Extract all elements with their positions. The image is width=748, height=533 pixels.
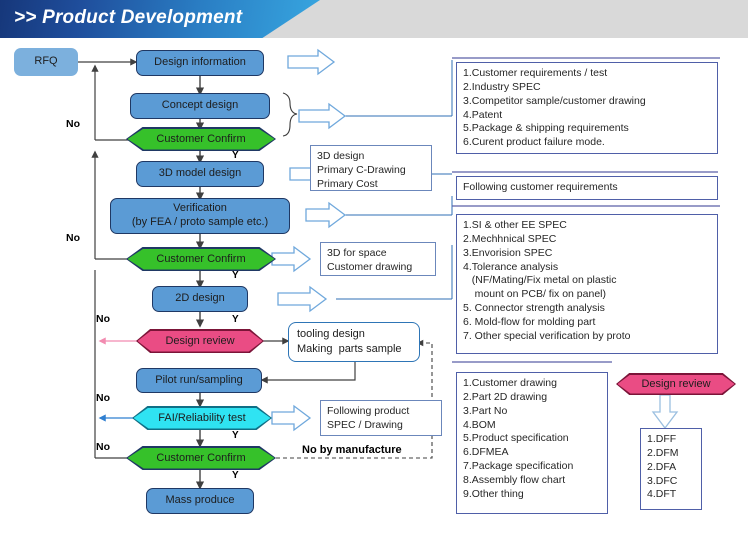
panel-dfx-list-item-2: 2.DFM <box>647 447 695 461</box>
panel-spec-list-item-9: 7. Other special verification by proto <box>463 330 711 344</box>
flow-node-pilot-run-sampling-label: Pilot run/sampling <box>155 374 242 388</box>
panel-dfx-list-item-3: 2.DFA <box>647 461 695 475</box>
flow-node-design-review-label: Design review <box>165 335 234 347</box>
panel-deliverables-item-5: 5.Product specification <box>463 432 601 446</box>
callout-3d-for-space-line-1: 3D for space <box>327 247 429 261</box>
callout-3d-for-space-line-2: Customer drawing <box>327 261 429 275</box>
branch-label-yes-4: Y <box>232 430 239 441</box>
callout-following-product-line-2: SPEC / Drawing <box>327 419 435 433</box>
flow-node-customer-confirm-2[interactable]: Customer Confirm <box>126 247 276 271</box>
callout-tooling-design[interactable]: tooling design Making parts sample <box>288 322 420 362</box>
panel-deliverables-item-6: 6.DFMEA <box>463 446 601 460</box>
panel-customer-requirements: 1.Customer requirements / test 2.Industr… <box>456 62 718 154</box>
flow-node-customer-confirm-2-label: Customer Confirm <box>156 253 245 265</box>
panel-spec-list-item-4: 4.Tolerance analysis <box>463 261 711 275</box>
panel-customer-requirements-item-3: 3.Competitor sample/customer drawing <box>463 95 711 109</box>
callout-3d-design-line-2: Primary C-Drawing <box>317 164 425 178</box>
flow-node-rfq-label: RFQ <box>34 55 57 69</box>
panel-customer-requirements-item-1: 1.Customer requirements / test <box>463 67 711 81</box>
flow-node-rfq[interactable]: RFQ <box>14 48 78 76</box>
badge-design-review-label: Design review <box>641 378 710 390</box>
panel-deliverables-item-1: 1.Customer drawing <box>463 377 601 391</box>
panel-dfx-list-item-1: 1.DFF <box>647 433 695 447</box>
callout-3d-design-line-3: Primary Cost <box>317 178 425 192</box>
panel-dfx-list-item-5: 4.DFT <box>647 488 695 502</box>
callout-3d-design: 3D design Primary C-Drawing Primary Cost <box>310 145 432 191</box>
flow-node-concept-design-label: Concept design <box>162 99 238 113</box>
flow-node-mass-produce-label: Mass produce <box>165 494 234 508</box>
panel-deliverables-item-7: 7.Package specification <box>463 460 601 474</box>
panel-following-customer-requirements: Following customer requirements <box>456 176 718 200</box>
panel-customer-requirements-item-2: 2.Industry SPEC <box>463 81 711 95</box>
flow-node-mass-produce[interactable]: Mass produce <box>146 488 254 514</box>
panel-customer-requirements-item-4: 4.Patent <box>463 109 711 123</box>
branch-label-no-5: No <box>96 441 110 453</box>
callout-following-product-line-1: Following product <box>327 405 435 419</box>
branch-label-yes-2: Y <box>232 270 239 281</box>
panel-spec-list-item-3: 3.Envorision SPEC <box>463 247 711 261</box>
header-divider <box>0 38 748 40</box>
panel-deliverables-item-4: 4.BOM <box>463 419 601 433</box>
callout-3d-for-space: 3D for space Customer drawing <box>320 242 436 276</box>
panel-deliverables-item-2: 2.Part 2D drawing <box>463 391 601 405</box>
flow-node-3d-model-design[interactable]: 3D model design <box>136 161 264 187</box>
panel-following-customer-requirements-item-1: Following customer requirements <box>463 181 711 195</box>
flow-node-fai-reliability-test[interactable]: FAI/Reliability test <box>132 406 272 430</box>
flow-node-concept-design[interactable]: Concept design <box>130 93 270 119</box>
flow-node-design-information[interactable]: Design information <box>136 50 264 76</box>
flow-node-3d-model-design-label: 3D model design <box>159 167 242 181</box>
flow-node-fai-reliability-test-label: FAI/Reliability test <box>158 412 245 424</box>
panel-spec-list-item-1: 1.SI & other EE SPEC <box>463 219 711 233</box>
panel-dfx-list: 1.DFF 2.DFM 2.DFA 3.DFC 4.DFT <box>640 428 702 510</box>
callout-tooling-design-line-2: Making parts sample <box>297 342 411 357</box>
badge-design-review[interactable]: Design review <box>616 373 736 395</box>
flow-node-design-information-label: Design information <box>154 56 246 70</box>
hollow-arrow-icon <box>288 50 334 74</box>
panel-deliverables-item-8: 8.Assembly flow chart <box>463 474 601 488</box>
flow-node-customer-confirm-1-label: Customer Confirm <box>156 133 245 145</box>
branch-label-yes-1: Y <box>232 150 239 161</box>
panel-spec-list-item-6: mount on PCB/ fix on panel) <box>463 288 711 302</box>
flow-node-design-review[interactable]: Design review <box>136 329 264 353</box>
panel-deliverables-item-3: 3.Part No <box>463 405 601 419</box>
callout-following-product: Following product SPEC / Drawing <box>320 400 442 436</box>
flow-node-customer-confirm-1[interactable]: Customer Confirm <box>126 127 276 151</box>
flow-node-pilot-run-sampling[interactable]: Pilot run/sampling <box>136 368 262 393</box>
branch-label-no-4: No <box>96 392 110 404</box>
panel-spec-list: 1.SI & other EE SPEC 2.Mechhnical SPEC 3… <box>456 214 718 354</box>
panel-deliverables: 1.Customer drawing 2.Part 2D drawing 3.P… <box>456 372 608 514</box>
branch-label-no-1: No <box>66 118 80 130</box>
callout-3d-design-line-1: 3D design <box>317 150 425 164</box>
panel-spec-list-item-8: 6. Mold-flow for molding part <box>463 316 711 330</box>
panel-customer-requirements-item-5: 5.Package & shipping requirements <box>463 122 711 136</box>
panel-spec-list-item-2: 2.Mechhnical SPEC <box>463 233 711 247</box>
branch-label-no-2: No <box>66 232 80 244</box>
panel-deliverables-item-9: 9.Other thing <box>463 488 601 502</box>
flow-node-2d-design-label: 2D design <box>175 292 225 306</box>
panel-customer-requirements-item-6: 6.Curent product failure mode. <box>463 136 711 150</box>
panel-spec-list-item-7: 5. Connector strength analysis <box>463 302 711 316</box>
branch-label-yes-3: Y <box>232 314 239 325</box>
flow-node-customer-confirm-3-label: Customer Confirm <box>156 452 245 464</box>
panel-spec-list-item-5: (NF/Mating/Fix metal on plastic <box>463 274 711 288</box>
flow-node-verification-line-2: (by FEA / proto sample etc.) <box>132 216 268 230</box>
callout-tooling-design-line-1: tooling design <box>297 327 411 342</box>
panel-dfx-list-item-4: 3.DFC <box>647 475 695 489</box>
branch-label-no-3: No <box>96 313 110 325</box>
slide-canvas: >> Product Development <box>0 0 748 533</box>
flow-node-verification-line-1: Verification <box>173 202 227 216</box>
flow-node-customer-confirm-3[interactable]: Customer Confirm <box>126 446 276 470</box>
flow-node-2d-design[interactable]: 2D design <box>152 286 248 312</box>
note-no-by-manufacture: No by manufacture <box>302 444 402 456</box>
page-title: >> Product Development <box>14 7 242 29</box>
branch-label-yes-5: Y <box>232 470 239 481</box>
flow-node-verification[interactable]: Verification (by FEA / proto sample etc.… <box>110 198 290 234</box>
